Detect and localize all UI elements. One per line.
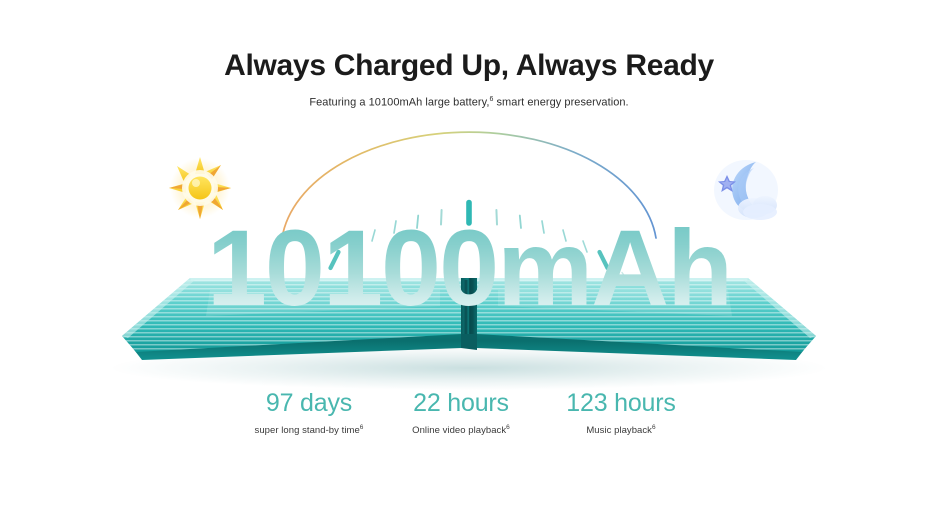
stat-label-standby-text: super long stand-by time (255, 425, 360, 436)
promo-hero-page: Always Charged Up, Always Ready Featurin… (0, 0, 938, 527)
stat-label-standby: super long stand-by time6 (233, 424, 385, 436)
stat-label-music: Music playback6 (537, 424, 705, 436)
device-hinge (461, 278, 477, 350)
sun-icon (164, 152, 236, 229)
device-right-panel (476, 278, 816, 360)
moon-icon (708, 152, 782, 229)
page-subtitle: Featuring a 10100mAh large battery,6 sma… (0, 96, 938, 109)
stat-label-music-footnote: 6 (652, 424, 656, 431)
subtitle-text-after: smart energy preservation. (493, 97, 628, 109)
page-title: Always Charged Up, Always Ready (0, 48, 938, 84)
foldable-device (122, 278, 816, 360)
subtitle-text-before: Featuring a 10100mAh large battery, (309, 97, 489, 109)
hero-illustration (0, 120, 938, 390)
stat-item-music: 123 hours Music playback6 (537, 388, 705, 436)
battery-stats-row: 97 days super long stand-by time6 22 hou… (0, 388, 938, 436)
stat-value-standby: 97 days (233, 388, 385, 419)
stat-label-video-footnote: 6 (506, 424, 510, 431)
device-left-panel (122, 278, 462, 360)
stat-label-video-text: Online video playback (412, 425, 506, 436)
stat-item-standby: 97 days super long stand-by time6 (233, 388, 385, 436)
stat-item-video: 22 hours Online video playback6 (385, 388, 537, 436)
stat-label-music-text: Music playback (586, 425, 652, 436)
stat-label-standby-footnote: 6 (360, 424, 364, 431)
stat-value-video: 22 hours (385, 388, 537, 419)
stat-value-music: 123 hours (537, 388, 705, 419)
stat-label-video: Online video playback6 (385, 424, 537, 436)
